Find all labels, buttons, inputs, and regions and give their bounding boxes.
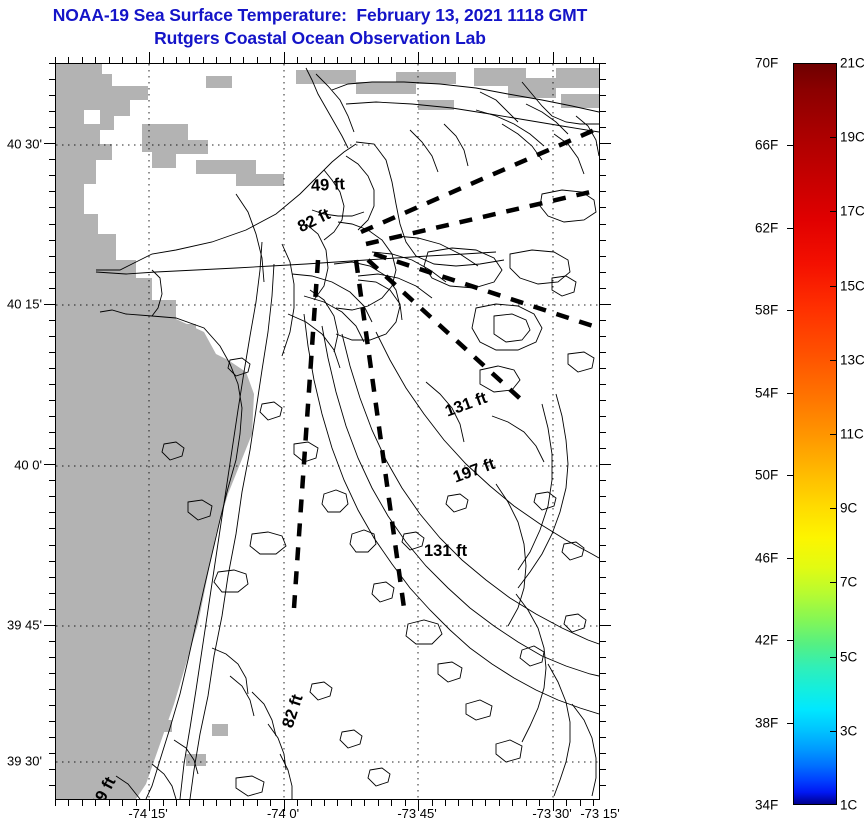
axis-tick bbox=[600, 256, 606, 257]
x-axis-label: -73 45' bbox=[397, 806, 436, 821]
axis-tick bbox=[600, 143, 611, 144]
y-axis-label: 39 30' bbox=[0, 754, 42, 769]
axis-tick bbox=[600, 175, 606, 176]
x-axis-label: -73 30' bbox=[532, 806, 571, 821]
colorbar-label-fahrenheit: 50F bbox=[755, 468, 778, 483]
colorbar-label-celsius: 1C bbox=[840, 798, 857, 813]
colorbar-label-celsius: 15C bbox=[840, 278, 864, 293]
axis-tick bbox=[600, 641, 606, 642]
colorbar-label-celsius: 13C bbox=[840, 352, 864, 367]
y-axis-label: 40 30' bbox=[0, 137, 42, 152]
colorbar-label-fahrenheit: 34F bbox=[755, 798, 778, 813]
axis-tick bbox=[600, 673, 606, 674]
axis-tick bbox=[600, 240, 606, 241]
axis-tick bbox=[600, 737, 606, 738]
axis-tick bbox=[600, 480, 606, 481]
axis-tick bbox=[600, 95, 606, 96]
axis-tick bbox=[600, 400, 606, 401]
axis-tick bbox=[600, 657, 606, 658]
colorbar-tick-f bbox=[787, 558, 794, 559]
axis-tick bbox=[600, 416, 606, 417]
colorbar-tick-c bbox=[830, 508, 837, 509]
colorbar-tick-f bbox=[787, 393, 794, 394]
colorbar-label-celsius: 21C bbox=[840, 56, 864, 71]
axis-tick bbox=[600, 224, 606, 225]
axis-tick bbox=[600, 127, 606, 128]
axis-tick bbox=[600, 545, 606, 546]
colorbar-tick-c bbox=[830, 137, 837, 138]
axis-tick bbox=[600, 448, 606, 449]
axis-tick bbox=[600, 272, 606, 273]
colorbar-label-celsius: 11C bbox=[840, 427, 864, 442]
axis-tick bbox=[600, 609, 606, 610]
axis-tick bbox=[600, 625, 611, 626]
colorbar-label-fahrenheit: 58F bbox=[755, 303, 778, 318]
colorbar-tick-c bbox=[830, 582, 837, 583]
colorbar-tick-f bbox=[787, 723, 794, 724]
axis-tick bbox=[600, 689, 606, 690]
colorbar-tick-f bbox=[787, 145, 794, 146]
x-axis-label: -74 0' bbox=[267, 806, 299, 821]
axis-tick bbox=[600, 464, 611, 465]
axis-tick bbox=[600, 336, 606, 337]
axis-tick bbox=[600, 159, 606, 160]
colorbar-label-fahrenheit: 70F bbox=[755, 56, 778, 71]
colorbar-label-fahrenheit: 54F bbox=[755, 385, 778, 400]
colorbar-label-fahrenheit: 62F bbox=[755, 220, 778, 235]
axis-tick bbox=[600, 352, 606, 353]
colorbar-tick-c bbox=[830, 731, 837, 732]
axis-tick bbox=[600, 79, 606, 80]
axis-tick bbox=[600, 705, 606, 706]
colorbar-tick-c bbox=[830, 434, 837, 435]
axis-tick bbox=[600, 512, 606, 513]
colorbar-label-fahrenheit: 42F bbox=[755, 633, 778, 648]
axis-tick bbox=[600, 432, 606, 433]
colorbar-tick-f bbox=[787, 640, 794, 641]
x-axis-label: -73 15' bbox=[580, 806, 619, 821]
colorbar-label-celsius: 5C bbox=[840, 649, 857, 664]
axis-tick bbox=[600, 63, 606, 64]
axis-tick bbox=[600, 577, 606, 578]
colorbar-tick-f bbox=[787, 228, 794, 229]
y-axis-label: 40 15' bbox=[0, 297, 42, 312]
y-axis-label: 39 45' bbox=[0, 618, 42, 633]
axis-tick bbox=[600, 721, 606, 722]
axis-tick bbox=[600, 288, 606, 289]
axis-tick bbox=[600, 561, 606, 562]
axis-tick bbox=[600, 528, 606, 529]
x-axis-label: -74 15' bbox=[128, 806, 167, 821]
axis-tick bbox=[600, 207, 606, 208]
axis-tick bbox=[600, 496, 606, 497]
axis-tick bbox=[600, 769, 606, 770]
colorbar-tick-c bbox=[830, 211, 837, 212]
colorbar-label-fahrenheit: 66F bbox=[755, 138, 778, 153]
axis-tick bbox=[600, 785, 606, 786]
axis-tick bbox=[600, 111, 606, 112]
axis-tick bbox=[600, 320, 606, 321]
y-axis-label: 40 0' bbox=[0, 458, 42, 473]
colorbar-tick-c bbox=[830, 657, 837, 658]
axis-tick bbox=[600, 191, 606, 192]
colorbar-label-fahrenheit: 38F bbox=[755, 715, 778, 730]
colorbar-tick-f bbox=[787, 310, 794, 311]
axis-tick bbox=[600, 384, 606, 385]
colorbar-tick-c bbox=[830, 286, 837, 287]
axis-tick bbox=[600, 593, 606, 594]
colorbar-tick-f bbox=[787, 475, 794, 476]
colorbar-tick-c bbox=[830, 360, 837, 361]
colorbar-label-celsius: 9C bbox=[840, 501, 857, 516]
axis-tick bbox=[600, 753, 606, 754]
colorbar-label-celsius: 17C bbox=[840, 204, 864, 219]
colorbar-label-celsius: 3C bbox=[840, 723, 857, 738]
y-axis-ticks-right bbox=[0, 0, 864, 832]
colorbar-label-celsius: 19C bbox=[840, 130, 864, 145]
colorbar-label-celsius: 7C bbox=[840, 575, 857, 590]
axis-tick bbox=[600, 368, 606, 369]
colorbar-label-fahrenheit: 46F bbox=[755, 550, 778, 565]
axis-tick bbox=[600, 304, 611, 305]
